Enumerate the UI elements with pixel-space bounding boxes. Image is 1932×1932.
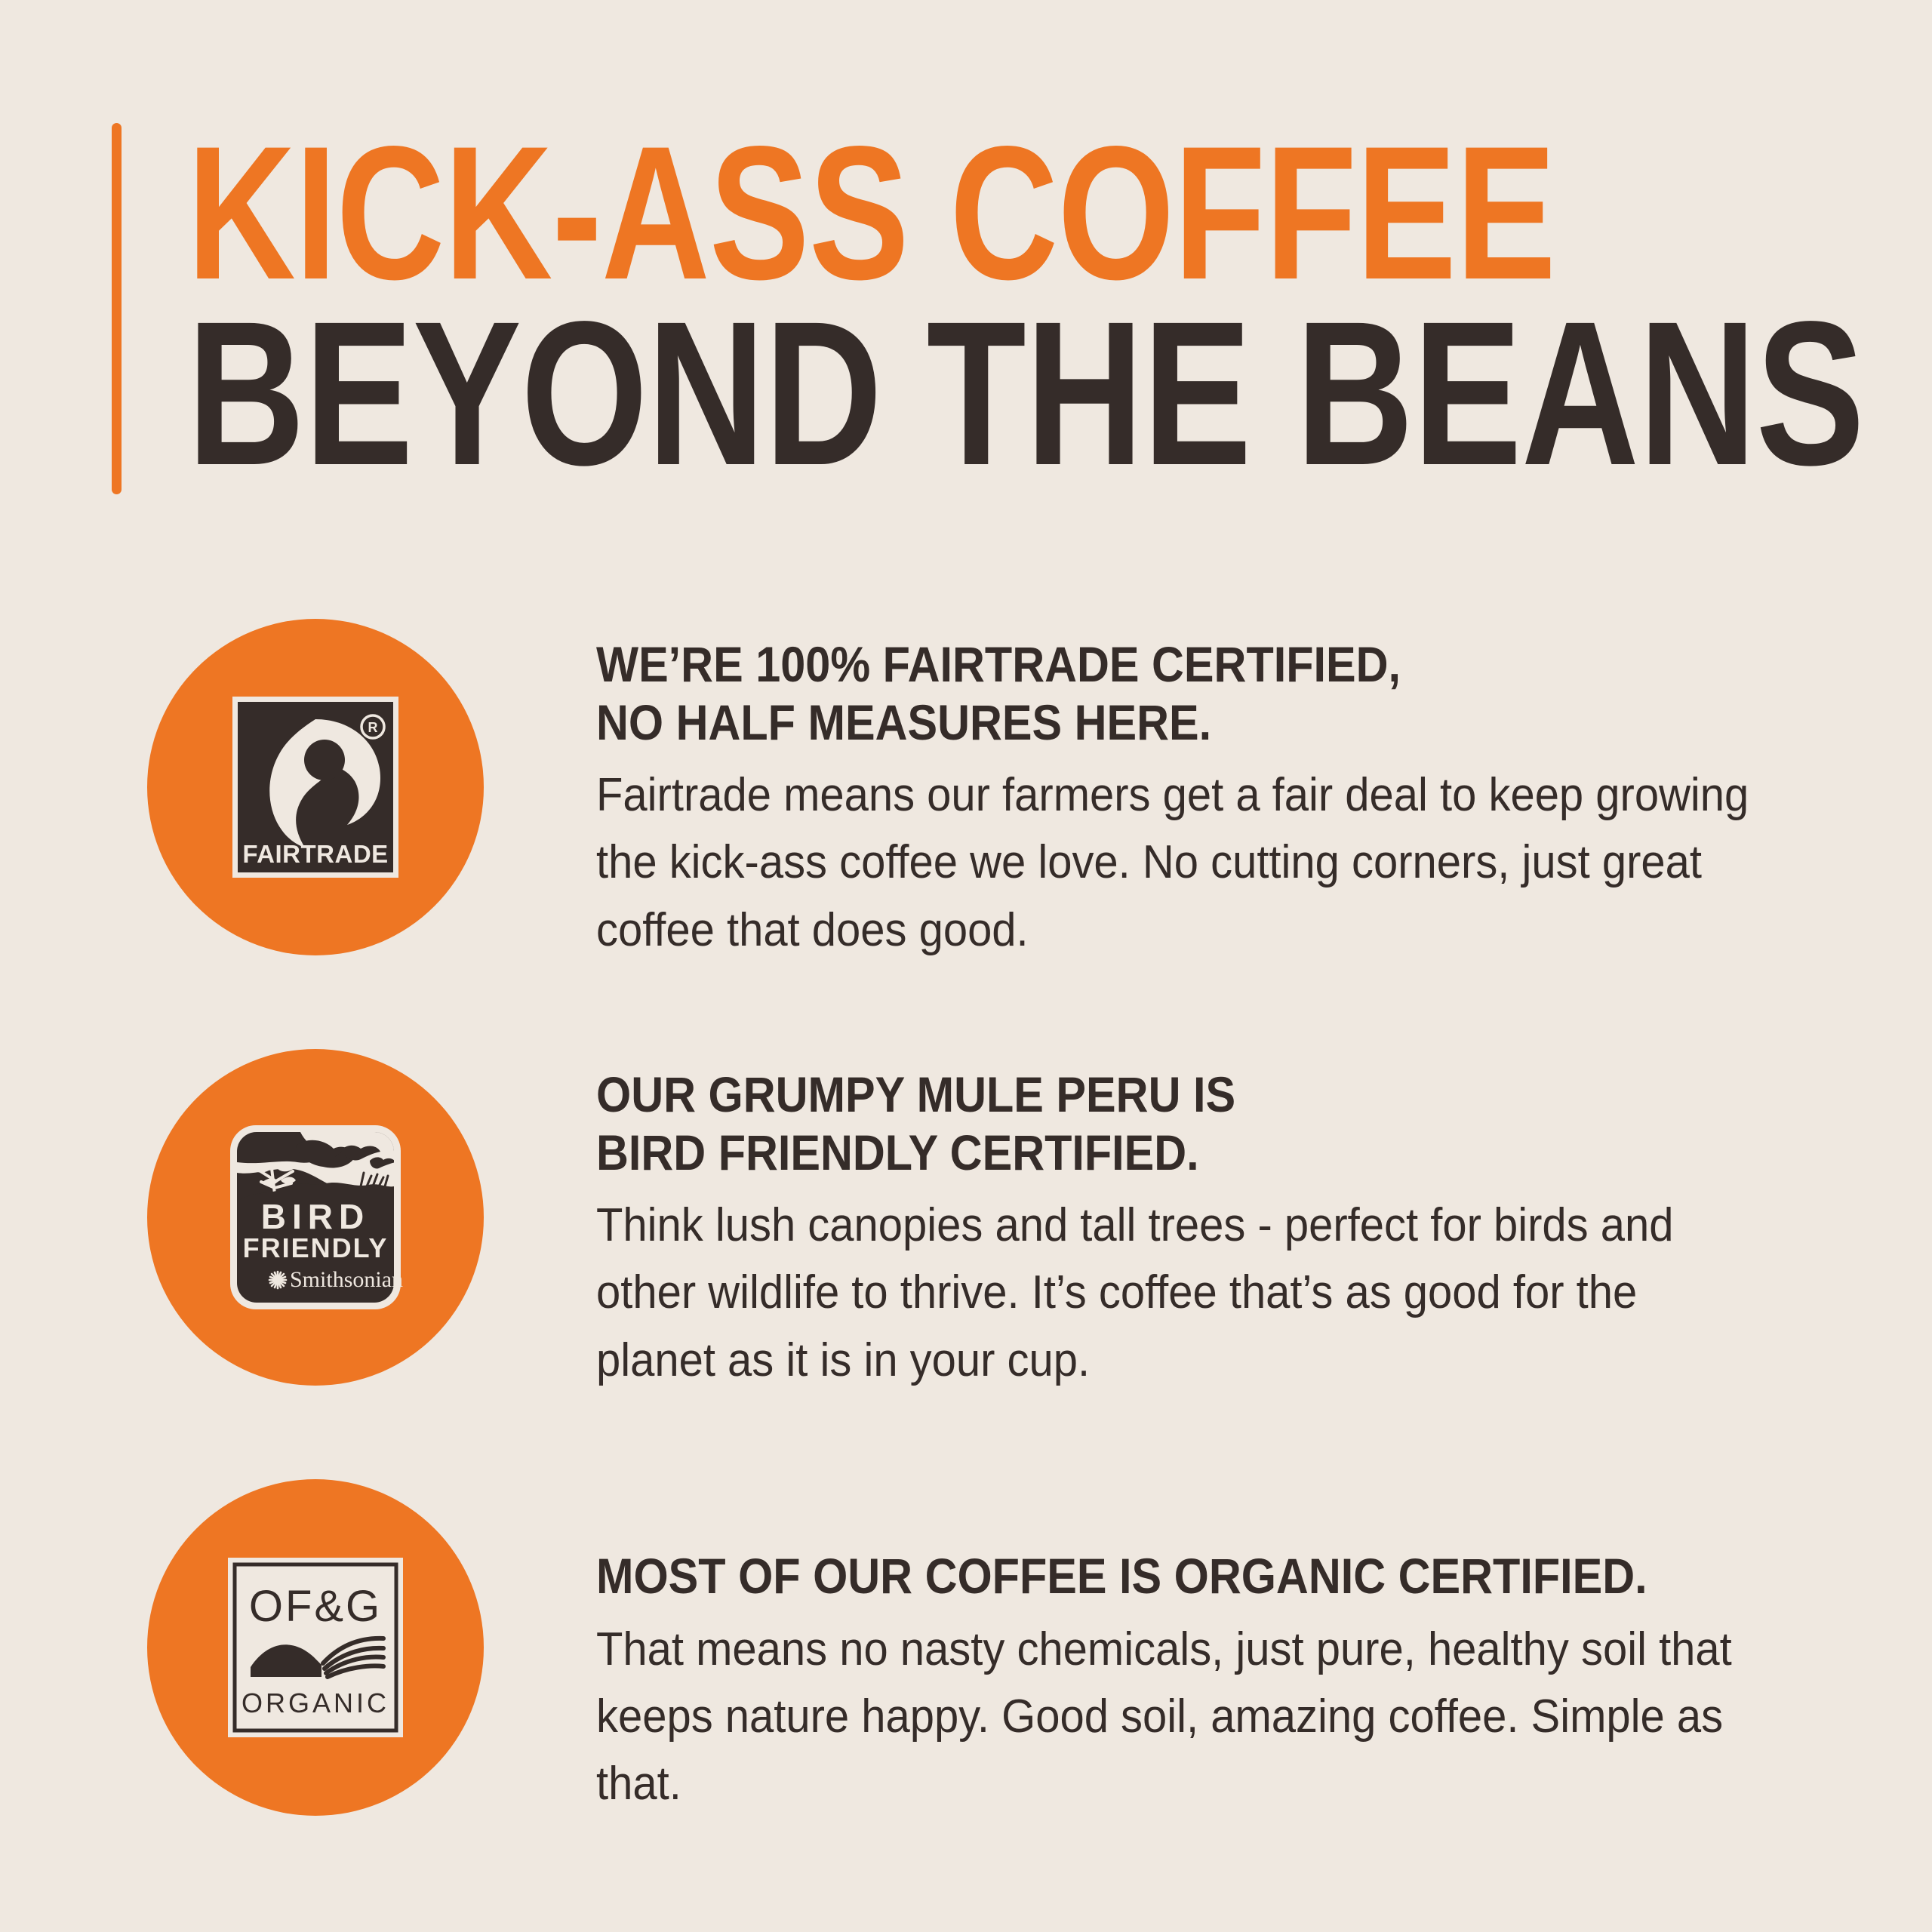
block-body-bird-friendly: Think lush canopies and tall trees - per…	[596, 1192, 1753, 1394]
svg-text:ORGANIC: ORGANIC	[241, 1687, 389, 1718]
bird-friendly-smithsonian-logo-icon: BIRD FRIENDLY	[228, 1123, 403, 1312]
svg-text:FAIRTRADE: FAIRTRADE	[242, 840, 388, 868]
block-heading-organic: MOST OF OUR COFFEE IS ORGANIC CERTIFIED.	[596, 1547, 1710, 1605]
ofg-organic-logo-icon: OF&G ORGANIC	[228, 1558, 403, 1737]
block-body-fairtrade: Fairtrade means our farmers get a fair d…	[596, 761, 1753, 964]
text-column-organic: MOST OF OUR COFFEE IS ORGANIC CERTIFIED.…	[596, 1547, 1834, 1817]
badge-circle-organic: OF&G ORGANIC	[147, 1479, 484, 1816]
fairtrade-logo-icon: R FAIRTRADE	[232, 697, 398, 878]
svg-text:FRIENDLY: FRIENDLY	[243, 1232, 389, 1263]
svg-text:BIRD: BIRD	[261, 1197, 370, 1236]
badge-circle-fairtrade: R FAIRTRADE	[147, 619, 484, 955]
svg-text:R: R	[368, 720, 378, 735]
badge-circle-bird-friendly: BIRD FRIENDLY	[147, 1049, 484, 1386]
title-line-beyond-the-beans: Beyond the Beans	[187, 293, 1864, 494]
text-column-bird-friendly: OUR GRUMPY MULE PERU IS BIRD FRIENDLY CE…	[596, 1066, 1834, 1394]
infographic-page: Kick-Ass Coffee Beyond the Beans R FAIRT…	[0, 0, 1932, 1932]
svg-text:OF&G: OF&G	[249, 1582, 382, 1631]
text-column-fairtrade: WE’RE 100% FAIRTRADE CERTIFIED, NO HALF …	[596, 635, 1834, 964]
orange-accent-bar	[112, 123, 122, 494]
block-body-organic: That means no nasty chemicals, just pure…	[596, 1616, 1753, 1818]
svg-text:Smithsonian: Smithsonian	[290, 1267, 403, 1292]
block-heading-fairtrade: WE’RE 100% FAIRTRADE CERTIFIED, NO HALF …	[596, 635, 1710, 751]
block-heading-bird-friendly: OUR GRUMPY MULE PERU IS BIRD FRIENDLY CE…	[596, 1066, 1710, 1181]
page-header: Kick-Ass Coffee Beyond the Beans	[112, 121, 1832, 498]
